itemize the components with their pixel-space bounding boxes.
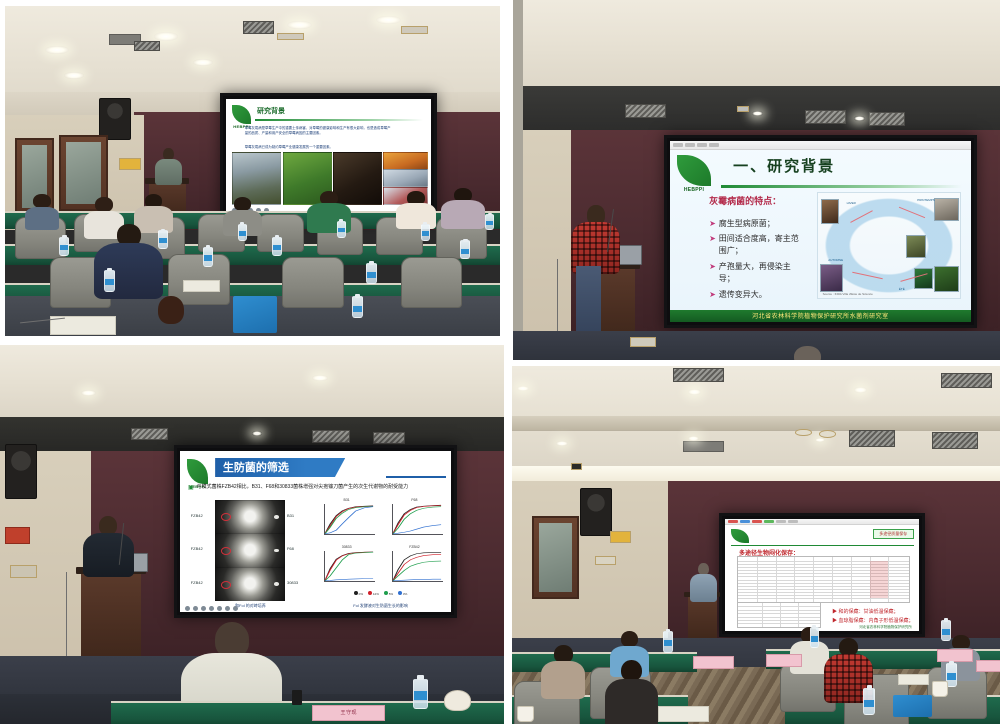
control-dot-icon[interactable] [193, 606, 198, 611]
slide-title: 生防菌的筛选 [215, 459, 289, 475]
x-axis [324, 581, 375, 582]
water-bottle [158, 230, 167, 249]
water-bottle [59, 237, 69, 256]
air-vent-icon [805, 110, 846, 125]
handout-paper [658, 706, 709, 722]
hebppi-logo-icon: HEBPPI [232, 105, 250, 124]
window-glass [66, 142, 101, 205]
water-bottle [366, 263, 376, 283]
air-vent-icon [673, 368, 724, 383]
dish-right-label-2: F68 [287, 546, 294, 551]
cycle-thumb [821, 199, 839, 224]
air-vent-icon [134, 41, 161, 51]
air-vent-icon [243, 21, 275, 34]
presentation-screen-br[interactable]: 多途径质量保存 多途径生物闷化保存： [719, 513, 925, 637]
chevron-bullet-icon: ➤ [709, 289, 716, 301]
name-plate [693, 656, 734, 669]
cycle-thumb [906, 235, 926, 258]
downlight-icon [556, 441, 568, 446]
water-bottle [203, 247, 213, 267]
control-dot-icon[interactable] [201, 606, 206, 611]
paper-cup [932, 681, 949, 697]
presenter-bl [83, 516, 133, 573]
name-plate [976, 660, 1000, 673]
window-glass [539, 523, 573, 592]
cycle-source-note: Source : INRA Villa d'Este de Science [823, 292, 873, 296]
downlight-icon [752, 111, 764, 116]
bullet-subhead: 灰霉病菌的特点： [709, 195, 805, 209]
teapot [444, 690, 471, 711]
ceiling-sensor [795, 429, 812, 437]
water-bottle [413, 679, 428, 709]
downlight-icon [193, 59, 213, 66]
conference-tote-bag [233, 296, 278, 332]
attendee-head [215, 622, 249, 658]
wall-outlet [595, 556, 617, 565]
powerpoint-toolbar[interactable] [670, 141, 971, 150]
ceiling-projector-mount [571, 463, 583, 470]
ceiling-label [401, 26, 428, 33]
photo-gloved-hand [383, 169, 428, 187]
x-axis [392, 534, 443, 535]
air-vent-icon [625, 104, 666, 118]
slideshow-control-bar[interactable] [185, 606, 238, 611]
paper-cup [517, 706, 534, 722]
wall-sign [119, 158, 141, 170]
bullet-text: 腐生型病原菌； [719, 218, 775, 230]
chart-lines [324, 504, 375, 534]
legend-item: 12% [368, 591, 379, 596]
attendee [541, 645, 585, 695]
chevron-bullet-icon: ➤ [709, 233, 716, 245]
slide-canvas: HEBPPI 生防菌的筛选 ▣ 与模式菌株FZB42相比，B31、F68和308… [180, 451, 451, 612]
air-vent-icon [373, 432, 405, 444]
toolbar-chip-icon[interactable] [788, 520, 798, 523]
square-bullet-icon: ▣ [188, 484, 194, 491]
growth-chart-f68: F68 [383, 498, 445, 541]
air-vent-icon [683, 441, 724, 452]
petri-dish-pair-2 [215, 533, 285, 567]
wall-outlet [10, 565, 37, 578]
air-vent-icon [869, 112, 905, 126]
air-vent-icon [131, 428, 168, 440]
air-vent-icon [312, 430, 349, 443]
cycle-thumb [914, 268, 933, 289]
cycle-label-automne: AUTOMNE [828, 258, 843, 262]
slide-footer-banner: 河北省农林科学院植物保护研究所水菌剂研究室 [670, 310, 971, 323]
chart-lines [392, 504, 443, 534]
presenter-head [99, 516, 117, 535]
presentation-screen-tr[interactable]: HEBPPI 一、研究背景 灰霉病菌的特点： ➤ 腐生型病原菌； ➤ [664, 135, 977, 328]
toolbar-chip-icon[interactable] [740, 520, 750, 523]
toolbar-chip-icon[interactable] [697, 143, 707, 147]
cycle-thumb [934, 198, 959, 221]
chart-title: B31 [315, 498, 377, 502]
toolbar-chip-icon[interactable] [776, 520, 786, 523]
dish-right-label-3: 30833 [287, 580, 298, 585]
water-bottle [810, 627, 819, 648]
dish-left-label-3: FZB42 [191, 580, 203, 585]
red-note-2: ▶ 血琼脂保藏：内角子形低温保藏； [832, 617, 913, 624]
growth-chart-30833: 30833 [315, 545, 377, 588]
name-plate [937, 649, 973, 662]
slide-title: 研究背景 [257, 106, 285, 116]
growth-chart-fzb42: FZB42 [383, 545, 445, 588]
air-vent-icon [932, 432, 978, 448]
slide-bullet-line: ▣ 与模式菌株FZB42相比，B31、F68和30833菌株增强对尖孢镰刀菌产生… [188, 484, 443, 491]
slide-footer: 河北省农林科学院植物保护研究所 [859, 625, 912, 630]
bullet-text: 产孢量大，再侵染主导； [719, 261, 806, 285]
lecture-hall-scene-br: 多途径质量保存 多途径生物闷化保存： [512, 366, 1000, 724]
downlight-icon [854, 116, 865, 121]
presenter-shirt [690, 574, 717, 602]
dish-right-label-1: B31 [287, 513, 294, 518]
floor-outlet [630, 337, 656, 347]
toolbar-chip-icon[interactable] [764, 520, 774, 523]
slide-bullet-block: 灰霉病菌的特点： ➤ 腐生型病原菌； ➤ 田间适合度高，寄主范围广； ➤ [709, 195, 805, 305]
toolbar-chip-icon[interactable] [709, 143, 719, 147]
water-bottle [421, 224, 430, 241]
control-dot-icon[interactable] [217, 606, 222, 611]
toolbar-chip-icon[interactable] [673, 143, 683, 147]
chair [401, 257, 462, 309]
chart-lines [324, 551, 375, 581]
slide-title: 一、研究背景 [733, 155, 835, 176]
downlight-icon [688, 389, 702, 395]
panel-bottom-right[interactable]: 多途径质量保存 多途径生物闷化保存： [512, 366, 1000, 724]
petri-dish-pair-3 [215, 567, 285, 601]
air-vent-icon [849, 430, 895, 446]
attendee [396, 191, 436, 227]
growth-chart-b31: B31 [315, 498, 377, 541]
slide-paragraph: 草莓灰霉病是草莓生产中的重要土传病害，对草莓的健康影响和生产有很大影响，也是造成… [245, 126, 421, 150]
cable [557, 259, 558, 338]
chart-legend: 0% 12% 5% 3% [315, 591, 445, 596]
cycle-label-ete: ÉTÉ [899, 287, 905, 291]
spreadsheet-toolbar[interactable] [725, 519, 919, 526]
water-bottle [104, 270, 115, 292]
stage-floor-tr [513, 331, 1000, 360]
side-window [532, 516, 580, 599]
corner-tag: 多途径质量保存 [873, 529, 914, 539]
hebppi-logo-icon: HEBPPI [677, 155, 710, 186]
ceiling-bl [0, 345, 504, 428]
bullet-item: ➤ 遗传变异大。 [709, 289, 805, 301]
name-plate: 王守现 [312, 705, 385, 721]
attendee-foreground [139, 296, 203, 336]
control-dot-icon[interactable] [233, 606, 238, 611]
chevron-bullet-icon: ➤ [709, 218, 716, 230]
downlight-icon [81, 390, 96, 396]
cycle-label-printemps: PRINTEMPS [917, 198, 935, 202]
chart-title: F68 [383, 498, 445, 502]
bullet-text: 遗传变异大。 [719, 289, 767, 301]
legend-item: 5% [384, 591, 393, 596]
water-bottle [238, 224, 247, 241]
water-bottle [460, 240, 470, 259]
attendee [25, 194, 60, 227]
slide-biocontrol-screening: HEBPPI 生防菌的筛选 ▣ 与模式菌株FZB42相比，B31、F68和308… [180, 451, 451, 612]
chart-title: FZB42 [383, 545, 445, 549]
control-dot-icon[interactable] [225, 606, 230, 611]
cycle-label-hiver: HIVER [847, 201, 856, 205]
downlight-icon [688, 436, 700, 441]
panel-bottom-left[interactable]: HEBPPI 生防菌的筛选 ▣ 与模式菌株FZB42相比，B31、F68和308… [0, 345, 504, 724]
lecture-hall-scene-tl: HEBPPI 研究背景 草莓灰霉病是草莓生产中的重要土传病害，对草莓的健康影响和… [5, 6, 500, 336]
presenter-torso [155, 159, 182, 185]
botrytis-disease-cycle-figure: HIVER PRINTEMPS AUTOMNE ÉTÉ Source : INR… [817, 192, 960, 299]
ceiling-label [277, 33, 304, 40]
chart-lines [392, 551, 443, 581]
downlight-icon [517, 386, 529, 391]
paragraph-line-3: 草莓灰霉病已成为制约草莓产业健康发展的一个重要因素。 [245, 145, 421, 150]
presentation-screen-bl[interactable]: HEBPPI 生防菌的筛选 ▣ 与模式菌株FZB42相比，B31、F68和308… [174, 445, 457, 618]
photo-infected-fruit [383, 152, 428, 170]
petri-dish-pair-1 [215, 500, 285, 534]
wall-sign [610, 531, 632, 544]
presenter-polo-shirt [83, 533, 133, 577]
downlight-icon [252, 431, 262, 435]
handout-paper [898, 674, 929, 685]
water-bottle [485, 214, 494, 231]
presenter-legs [576, 266, 600, 338]
slide-title-banner: 生防菌的筛选 [215, 458, 345, 477]
slide-canvas: 多途径质量保存 多途径生物闷化保存： [725, 519, 919, 631]
left-edge-strip [513, 0, 523, 360]
legend-item: 3% [398, 591, 407, 596]
hebppi-logo-icon: HEBPPI [187, 459, 209, 483]
water-bottle [337, 221, 346, 238]
logo-label: HEBPPI [677, 187, 710, 193]
ceiling-speaker-icon [580, 488, 611, 537]
paragraph-line-2: 量的品质、产量和用户安全的草莓病因的主要因素。 [245, 131, 421, 136]
conference-tote-bag [893, 695, 932, 716]
bullet-item: ➤ 田间适合度高，寄主范围广； [709, 233, 805, 257]
toolbar-chip-icon[interactable] [752, 520, 762, 523]
ceiling-beam-br [512, 416, 1000, 431]
ceiling-speaker-icon [5, 444, 37, 499]
photo-collage: HEBPPI 研究背景 草莓灰霉病是草莓生产中的重要土传病害，对草莓的健康影响和… [0, 0, 1000, 724]
name-plate [766, 654, 802, 667]
air-vent-icon [941, 373, 992, 388]
water-bottle [663, 631, 673, 653]
bullet-text: 与模式菌株FZB42相比，B31、F68和30833菌株增强对尖孢镰刀菌产生的次… [197, 484, 408, 490]
dish-left-label-1: FZB42 [191, 513, 203, 518]
chart-title: 30833 [315, 545, 377, 549]
lecture-hall-scene-tr: HEBPPI 一、研究背景 灰霉病菌的特点： ➤ 腐生型病原菌； ➤ [513, 0, 1000, 360]
panel-top-left[interactable]: HEBPPI 研究背景 草莓灰霉病是草莓生产中的重要土传病害，对草莓的健康影响和… [5, 6, 500, 336]
panel-top-right[interactable]: HEBPPI 一、研究背景 灰霉病菌的特点： ➤ 腐生型病原菌； ➤ [513, 0, 1000, 360]
right-figure-caption: Fol 发酵液对生防菌生长的影响 [321, 603, 440, 609]
slide-preservation-table: 多途径质量保存 多途径生物闷化保存： [725, 519, 919, 631]
emergency-exit-sign [5, 527, 30, 544]
water-bottle [352, 296, 363, 318]
red-note-1: ▶ 和的保藏：甘油低温保藏； [832, 608, 898, 615]
ceiling-fixture [737, 106, 749, 112]
chevron-bullet-icon: ➤ [709, 261, 716, 273]
control-dot-icon[interactable] [209, 606, 214, 611]
bullet-item: ➤ 腐生型病原菌； [709, 218, 805, 230]
water-bottle [941, 620, 950, 641]
water-bottle [272, 237, 281, 256]
toolbar-chip-icon[interactable] [728, 520, 738, 523]
toolbar-chip-icon[interactable] [685, 143, 695, 147]
attendee [441, 188, 486, 228]
slide-research-background-detail: HEBPPI 一、研究背景 灰霉病菌的特点： ➤ 腐生型病原菌； ➤ [670, 141, 971, 322]
cycle-thumb [820, 264, 843, 292]
hebppi-logo-icon [731, 529, 748, 544]
thermos [292, 690, 302, 705]
x-axis [392, 581, 443, 582]
attendee-head-foreground [786, 346, 830, 360]
attendee [605, 660, 659, 724]
downlight-icon [312, 375, 327, 381]
legend-item: 0% [354, 591, 363, 596]
dish-left-label-2: FZB42 [191, 546, 203, 551]
data-table [737, 556, 910, 603]
x-axis [324, 534, 375, 535]
bullet-item: ➤ 产孢量大，再侵染主导； [709, 261, 805, 285]
bullet-text: 田间适合度高，寄主范围广； [719, 233, 806, 257]
handout-paper [183, 280, 220, 292]
chair [282, 257, 343, 309]
presenter-tl [154, 148, 184, 184]
water-bottle [863, 688, 875, 715]
slide-canvas: HEBPPI 一、研究背景 灰霉病菌的特点： ➤ 腐生型病原菌； ➤ [670, 141, 971, 322]
presenter-br [690, 563, 717, 599]
data-table-secondary [737, 602, 821, 629]
lecture-hall-scene-bl: HEBPPI 生防菌的筛选 ▣ 与模式菌株FZB42相比，B31、F68和308… [0, 345, 504, 724]
cycle-thumb [934, 266, 959, 292]
control-dot-icon[interactable] [185, 606, 190, 611]
